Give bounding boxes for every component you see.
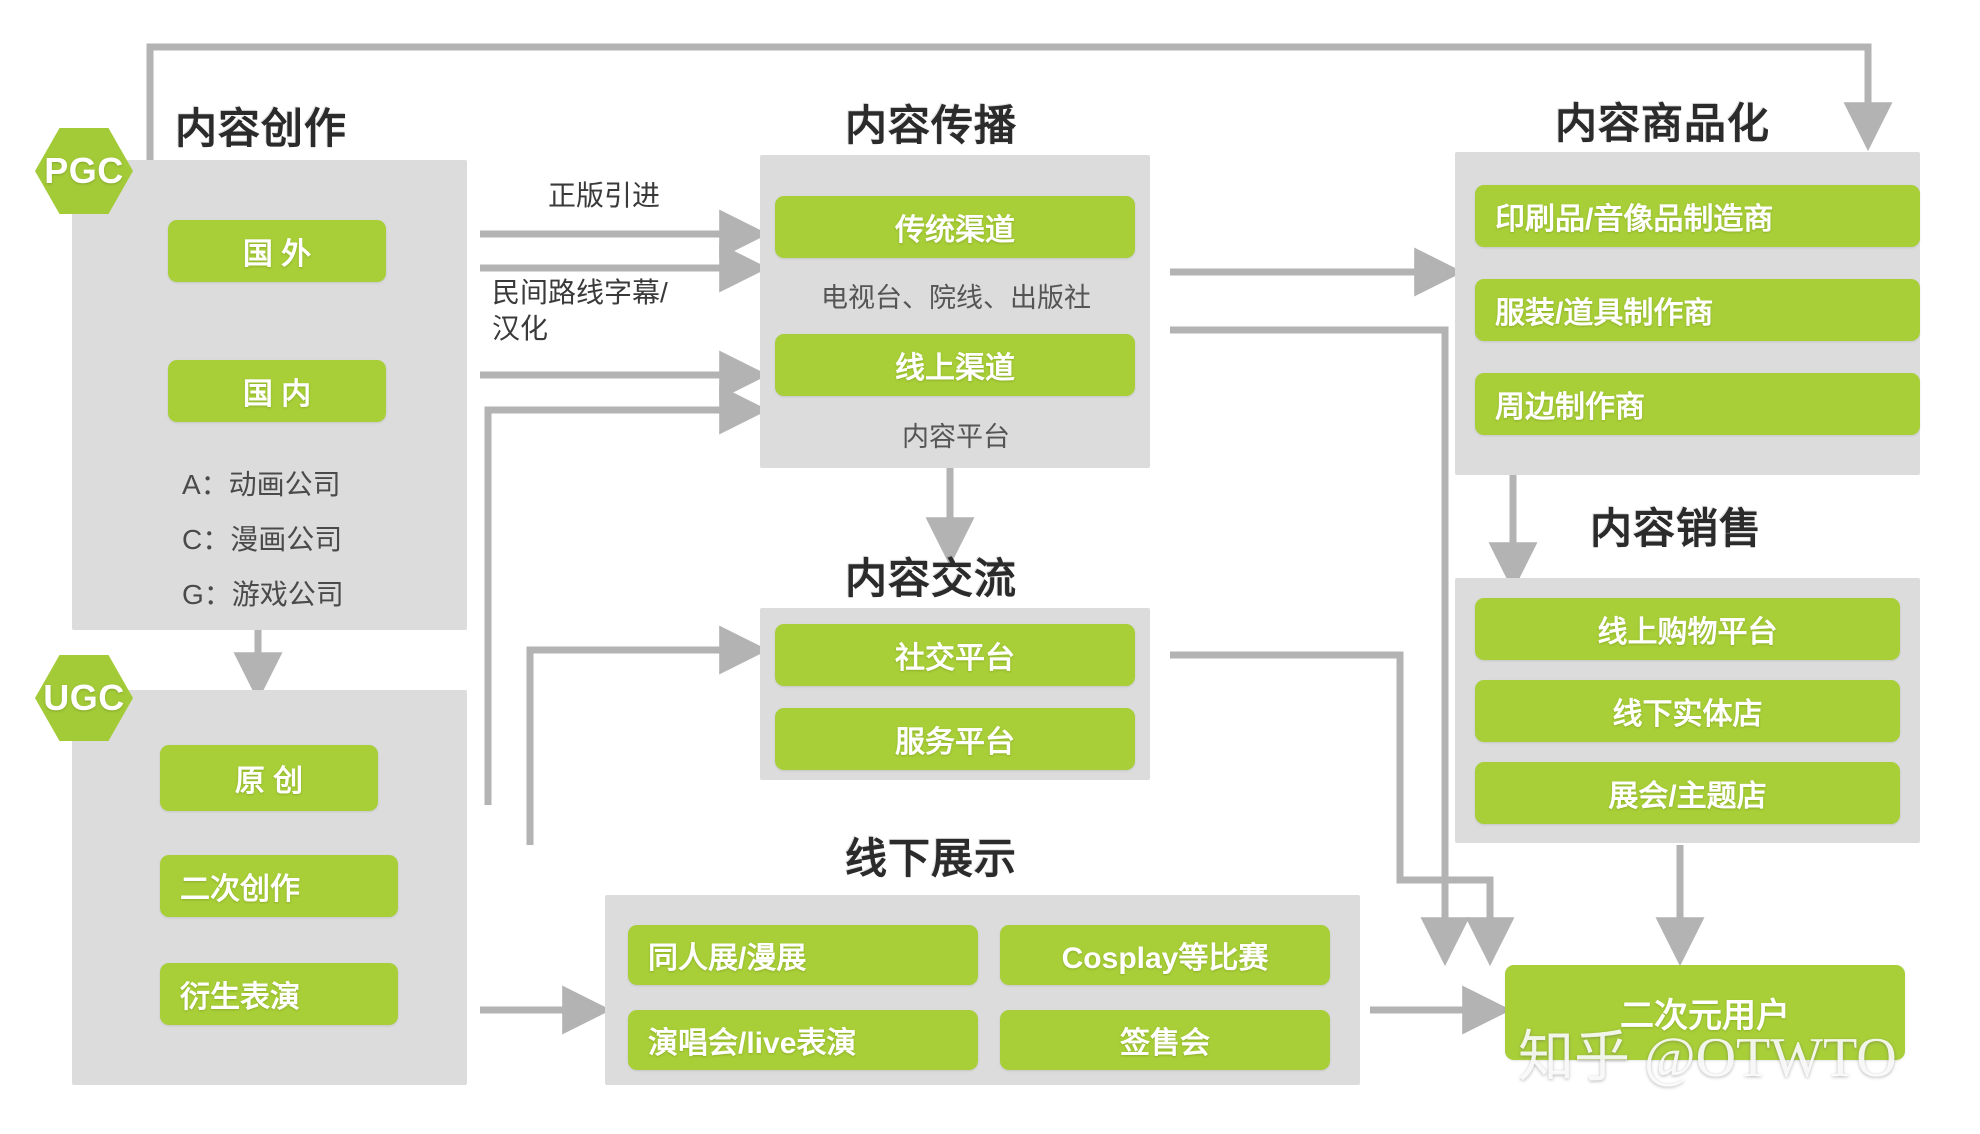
- sales-box-expo-theme-store-label: 展会/主题店: [1608, 771, 1766, 815]
- sales-box-offline-store[interactable]: 线下实体店: [1475, 680, 1900, 742]
- creation-box-domestic-label: 国 内: [243, 369, 311, 413]
- creation-box-overseas-label: 国 外: [243, 229, 311, 273]
- sales-box-offline-store-label: 线下实体店: [1613, 689, 1763, 733]
- commerce-box-merch-maker[interactable]: 周边制作商: [1475, 373, 1920, 435]
- edge-label-fansub: 民间路线字幕/ 汉化: [492, 275, 668, 347]
- exchange-box-service-label: 服务平台: [895, 717, 1015, 761]
- offline-box-cosplay-contest[interactable]: Cosplay等比赛: [1000, 925, 1330, 985]
- offline-box-concert-live-label: 演唱会/live表演: [648, 1018, 856, 1062]
- ugc-box-derivative[interactable]: 衍生表演: [160, 963, 398, 1025]
- offline-box-doujin-expo-label: 同人展/漫展: [648, 933, 806, 977]
- ugc-box-derivative-label: 衍生表演: [180, 972, 300, 1016]
- offline-box-signing-event[interactable]: 签售会: [1000, 1010, 1330, 1070]
- creation-box-domestic[interactable]: 国 内: [168, 360, 386, 422]
- watermark: 知乎 @OTWTO: [1518, 1012, 1897, 1093]
- section-title-distribution: 内容传播: [845, 92, 1017, 153]
- ugc-box-secondary[interactable]: 二次创作: [160, 855, 398, 917]
- distribution-caption-traditional: 电视台、院线、出版社: [778, 276, 1134, 315]
- section-title-sales: 内容销售: [1590, 495, 1762, 556]
- offline-box-signing-event-label: 签售会: [1120, 1018, 1210, 1062]
- sales-box-online-shopping[interactable]: 线上购物平台: [1475, 598, 1900, 660]
- offline-box-doujin-expo[interactable]: 同人展/漫展: [628, 925, 978, 985]
- edge-ugc-original-to-online: [488, 410, 757, 805]
- distribution-box-traditional-label: 传统渠道: [895, 205, 1015, 249]
- badge-pgc-label: PGC: [44, 150, 124, 192]
- commerce-box-print-av-manufacturer[interactable]: 印刷品/音像品制造商: [1475, 185, 1920, 247]
- ugc-box-original[interactable]: 原 创: [160, 745, 378, 811]
- section-title-offline: 线下展示: [845, 825, 1017, 886]
- exchange-box-social-label: 社交平台: [895, 633, 1015, 677]
- commerce-box-print-av-manufacturer-label: 印刷品/音像品制造商: [1495, 194, 1773, 238]
- legend-row-game: G：游戏公司: [182, 573, 344, 613]
- ugc-box-original-label: 原 创: [235, 756, 303, 800]
- legend-row-anime: A：动画公司: [182, 463, 341, 503]
- section-title-exchange: 内容交流: [845, 545, 1017, 606]
- commerce-box-costume-prop-maker[interactable]: 服装/道具制作商: [1475, 279, 1920, 341]
- edge-distribution-to-audience: [1170, 330, 1445, 955]
- section-title-commercialization: 内容商品化: [1555, 90, 1770, 151]
- distribution-box-traditional[interactable]: 传统渠道: [775, 196, 1135, 258]
- edge-label-licensed-import: 正版引进: [548, 178, 660, 214]
- offline-box-concert-live[interactable]: 演唱会/live表演: [628, 1010, 978, 1070]
- exchange-box-service[interactable]: 服务平台: [775, 708, 1135, 770]
- legend-row-manga: C：漫画公司: [182, 518, 342, 558]
- offline-box-cosplay-contest-label: Cosplay等比赛: [1062, 933, 1269, 977]
- ugc-box-secondary-label: 二次创作: [180, 864, 300, 908]
- edge-ugc-secondary-to-social: [530, 650, 757, 845]
- creation-box-overseas[interactable]: 国 外: [168, 220, 386, 282]
- commerce-box-merch-maker-label: 周边制作商: [1495, 382, 1645, 426]
- badge-ugc-label: UGC: [43, 677, 125, 719]
- distribution-box-online-label: 线上渠道: [895, 343, 1015, 387]
- commerce-box-costume-prop-maker-label: 服装/道具制作商: [1495, 288, 1713, 332]
- distribution-caption-online: 内容平台: [778, 415, 1134, 454]
- sales-box-expo-theme-store[interactable]: 展会/主题店: [1475, 762, 1900, 824]
- sales-box-online-shopping-label: 线上购物平台: [1598, 607, 1778, 651]
- distribution-box-online[interactable]: 线上渠道: [775, 334, 1135, 396]
- exchange-box-social[interactable]: 社交平台: [775, 624, 1135, 686]
- section-title-creation: 内容创作: [175, 95, 347, 156]
- diagram-canvas: 内容创作 PGC 国 外 国 内 A：动画公司 C：漫画公司 G：游戏公司 UG…: [0, 0, 1980, 1134]
